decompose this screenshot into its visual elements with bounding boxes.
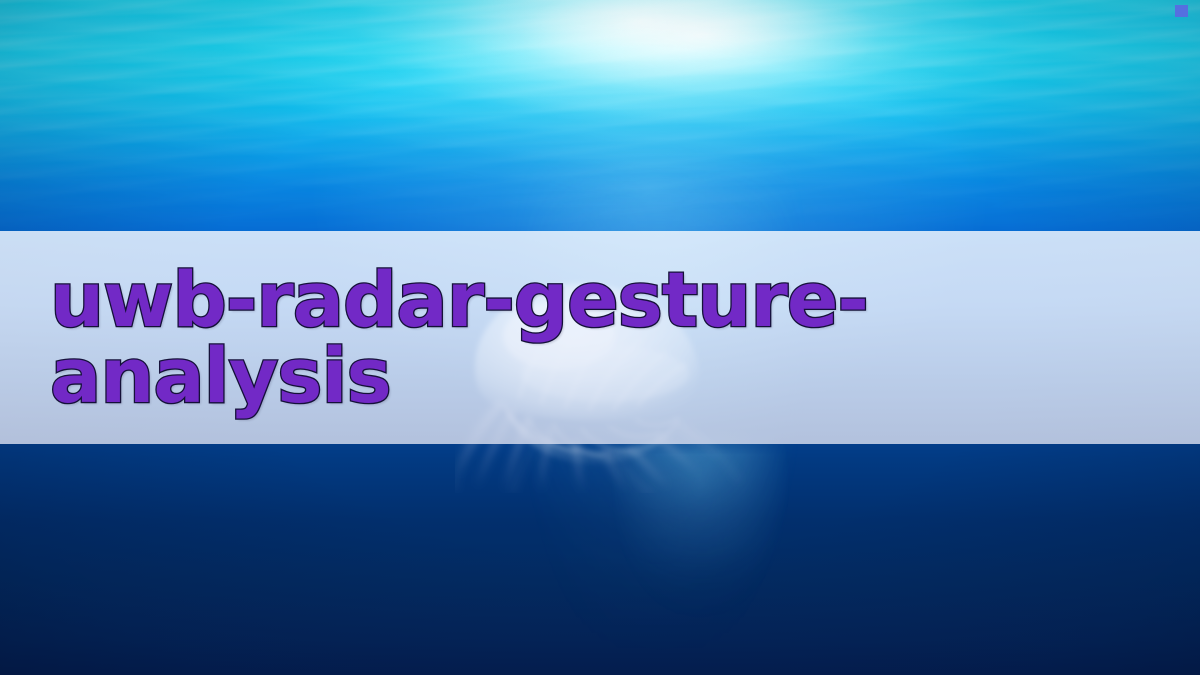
- corner-marker-square: [1175, 5, 1188, 17]
- slide-canvas: uwb-radar-gesture- analysis: [0, 0, 1200, 675]
- page-title: uwb-radar-gesture- analysis: [50, 231, 1130, 444]
